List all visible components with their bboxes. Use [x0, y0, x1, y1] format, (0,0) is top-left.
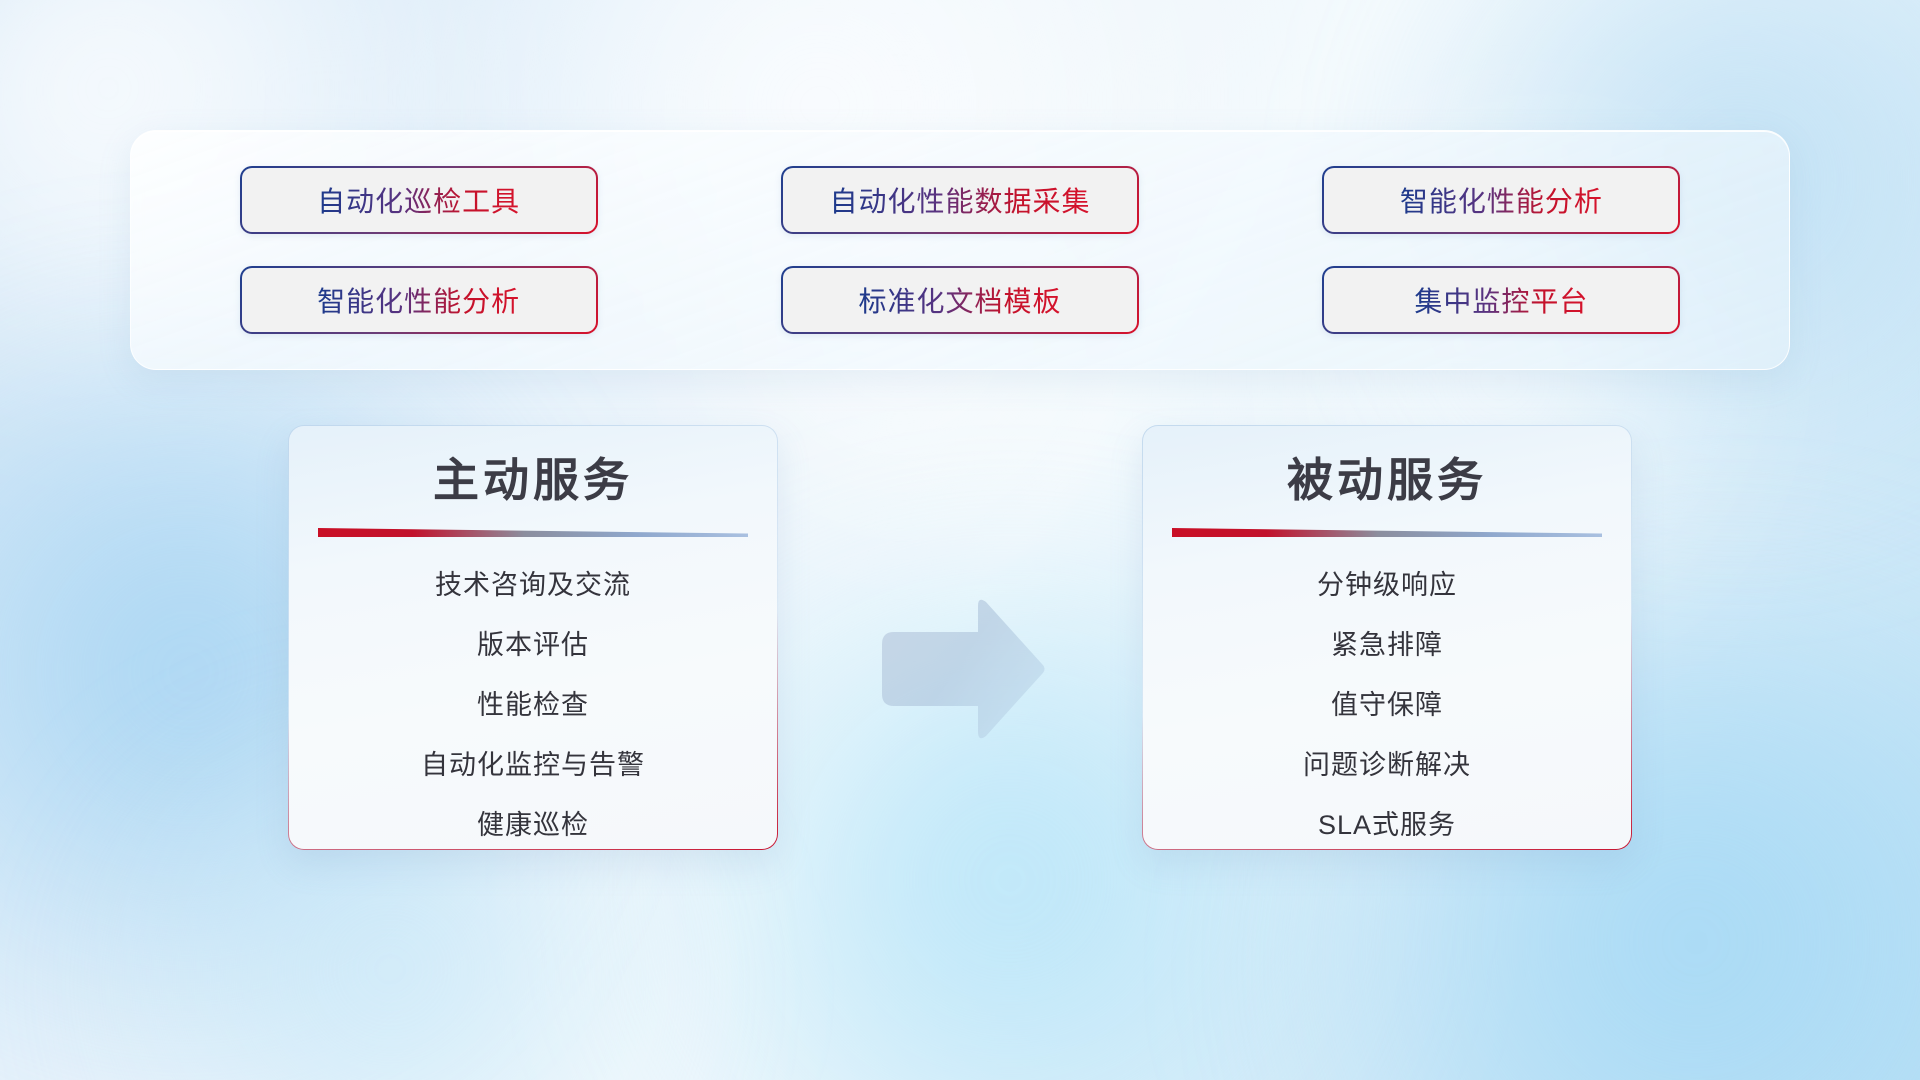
list-item: 技术咨询及交流: [435, 563, 631, 602]
capability-pill[interactable]: 自动化性能数据采集: [781, 166, 1139, 234]
active-service-card[interactable]: 主动服务 技术咨询及交流: [288, 425, 778, 850]
capability-pill[interactable]: 智能化性能分析: [1322, 166, 1680, 234]
active-service-list: 技术咨询及交流 版本评估 性能检查 自动化监控与告警 健康巡检: [289, 563, 777, 842]
capability-pill-surface: 自动化巡检工具: [242, 168, 596, 232]
passive-service-card[interactable]: 被动服务 分钟级响应: [1142, 425, 1632, 850]
list-item: 自动化监控与告警: [421, 743, 645, 782]
capability-pill-surface: 智能化性能分析: [242, 268, 596, 332]
passive-service-card-surface: 被动服务 分钟级响应: [1143, 426, 1631, 849]
list-item: SLA式服务: [1318, 803, 1456, 842]
capability-pill[interactable]: 智能化性能分析: [240, 266, 598, 334]
capability-pill-label: 智能化性能分析: [1400, 180, 1603, 220]
capability-pill-label: 自动化巡检工具: [317, 180, 520, 220]
capability-pill-label: 标准化文档模板: [858, 280, 1061, 320]
active-service-card-surface: 主动服务 技术咨询及交流: [289, 426, 777, 849]
list-item: 健康巡检: [477, 803, 589, 842]
capability-panel: 自动化巡检工具 自动化性能数据采集 智能化性能分析 智能化性能分析 标准化文档模…: [130, 130, 1790, 370]
capability-pill-surface: 智能化性能分析: [1324, 168, 1678, 232]
capability-pill-label: 智能化性能分析: [317, 280, 520, 320]
capability-pill-surface: 集中监控平台: [1324, 268, 1678, 332]
capability-pill-label: 集中监控平台: [1414, 280, 1588, 320]
arrow-right-icon: [872, 596, 1048, 744]
list-item: 值守保障: [1331, 683, 1443, 722]
list-item: 版本评估: [477, 623, 589, 662]
active-service-card-title: 主动服务: [433, 452, 633, 510]
list-item: 分钟级响应: [1317, 563, 1457, 602]
passive-service-list: 分钟级响应 紧急排障 值守保障 问题诊断解决 SLA式服务: [1143, 563, 1631, 842]
capability-pill-surface: 自动化性能数据采集: [783, 168, 1137, 232]
list-item: 问题诊断解决: [1303, 743, 1471, 782]
list-item: 紧急排障: [1331, 623, 1443, 662]
card-divider: [318, 526, 748, 539]
list-item: 性能检查: [477, 683, 589, 722]
card-divider: [1172, 526, 1602, 539]
capability-pill[interactable]: 标准化文档模板: [781, 266, 1139, 334]
capability-pill-surface: 标准化文档模板: [783, 268, 1137, 332]
passive-service-card-title: 被动服务: [1287, 452, 1487, 510]
capability-pill[interactable]: 自动化巡检工具: [240, 166, 598, 234]
capability-pill-label: 自动化性能数据采集: [829, 180, 1090, 220]
capability-pill[interactable]: 集中监控平台: [1322, 266, 1680, 334]
slide-canvas: 自动化巡检工具 自动化性能数据采集 智能化性能分析 智能化性能分析 标准化文档模…: [0, 0, 1920, 1080]
